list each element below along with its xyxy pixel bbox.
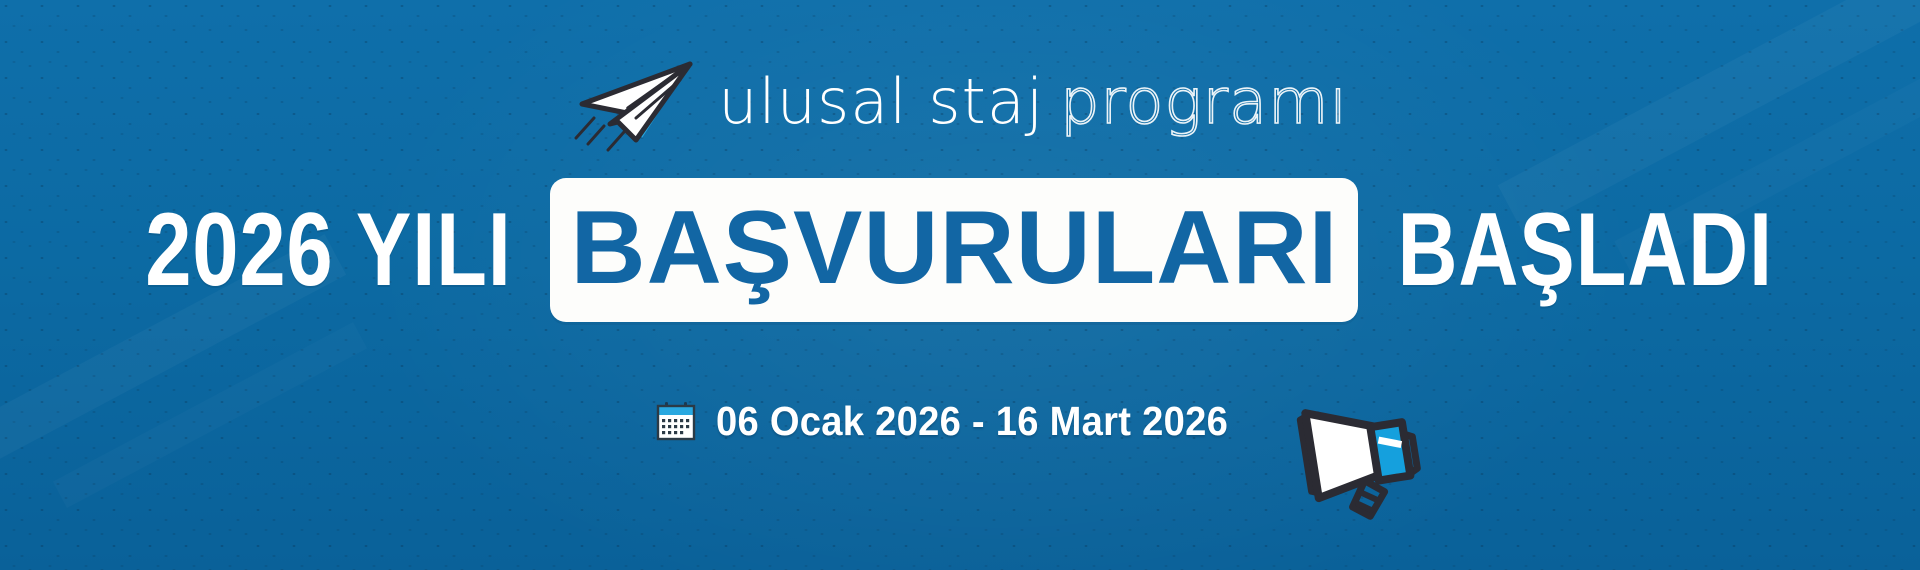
program-logo: ulusal staj programı xyxy=(0,52,1920,152)
megaphone-icon xyxy=(1282,376,1452,526)
headline-before: 2026 YILI xyxy=(146,198,524,302)
logo-word-primary: ulusal staj xyxy=(718,71,1044,133)
headline: 2026 YILI BAŞVURULARI BAŞLADI xyxy=(0,178,1920,322)
calendar-icon xyxy=(654,400,698,444)
campaign-banner: ulusal staj programı 2026 YILI BAŞVURULA… xyxy=(0,0,1920,570)
date-range-row: 06 Ocak 2026 - 16 Mart 2026 xyxy=(0,398,1920,445)
headline-after: BAŞLADI xyxy=(1387,198,1774,302)
logo-wordmark: ulusal staj programı xyxy=(718,71,1348,133)
logo-word-secondary: programı xyxy=(1060,71,1348,133)
paper-plane-icon xyxy=(572,52,702,152)
headline-highlight-box: BAŞVURULARI xyxy=(550,178,1358,322)
date-range-text: 06 Ocak 2026 - 16 Mart 2026 xyxy=(716,398,1228,445)
headline-highlight-text: BAŞVURULARI xyxy=(570,190,1338,306)
